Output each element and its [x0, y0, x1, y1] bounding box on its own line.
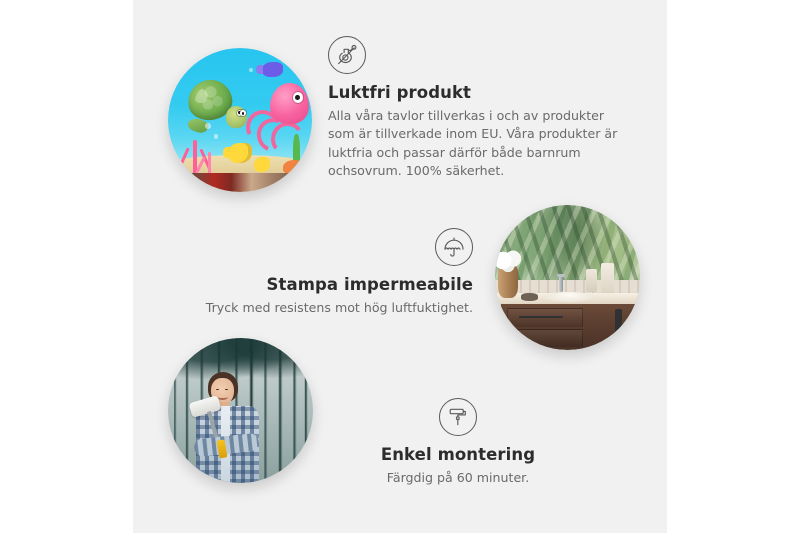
toiletry-bottle	[586, 269, 596, 292]
coral-branch	[177, 147, 190, 170]
feature-icon-row	[328, 36, 623, 74]
cabinet-drawer	[507, 329, 583, 348]
room-strip	[168, 173, 312, 192]
drawer-handle	[519, 316, 563, 318]
bathroom-tropical-wallpaper-circle-photo	[495, 205, 640, 350]
feature-block-odour-free: Luktfri produkt Alla våra tavlor tillver…	[328, 36, 623, 180]
octopus-head	[270, 83, 309, 124]
eye	[216, 389, 219, 391]
sea-turtle	[187, 80, 245, 129]
yellow-fish	[254, 157, 270, 171]
white-flowers	[495, 249, 524, 272]
paint-roller-icon	[439, 398, 477, 436]
feature-icon-row	[188, 228, 473, 266]
wooden-vanity-cabinet	[501, 304, 640, 350]
feature-description: Alla våra tavlor tillverkas i och av pro…	[328, 107, 623, 181]
toiletry-bottle	[601, 263, 614, 295]
soap-dish	[521, 293, 538, 300]
feature-description: Tryck med resistens mot hög luftfuktighe…	[188, 299, 473, 317]
painter-photo-inner	[168, 338, 313, 483]
eye	[225, 389, 228, 391]
octopus-eye	[293, 92, 303, 103]
faucet	[559, 275, 563, 292]
turtle-eye	[240, 110, 246, 116]
sink-basin	[544, 292, 593, 302]
octopus	[254, 83, 309, 149]
bubble	[205, 123, 211, 129]
cabinet-handle	[615, 309, 622, 338]
feature-title: Enkel montering	[328, 445, 588, 465]
bathroom-photo-inner	[495, 205, 640, 350]
infographic-canvas: Luktfri produkt Alla våra tavlor tillver…	[0, 0, 800, 533]
feature-icon-row	[328, 398, 588, 436]
feature-description: Färgdig på 60 minuter.	[328, 469, 588, 487]
feature-title: Stampa impermeabile	[188, 275, 473, 295]
feature-panel: Luktfri produkt Alla våra tavlor tillver…	[133, 0, 667, 533]
turtle-head	[226, 106, 247, 128]
umbrella-icon	[435, 228, 473, 266]
no-odour-spray-bottle-icon	[328, 36, 366, 74]
underwater-photo-inner	[168, 48, 312, 192]
painter-woman-forest-circle-photo	[168, 338, 313, 483]
coral-branch	[196, 156, 207, 174]
feature-block-easy-assembly: Enkel montering Färgdig på 60 minuter.	[328, 398, 588, 487]
feature-block-waterproof-print: Stampa impermeabile Tryck med resistens …	[188, 228, 473, 317]
feature-title: Luktfri produkt	[328, 83, 623, 103]
painter-woman	[194, 370, 269, 483]
blue-fish	[262, 62, 284, 76]
yellow-fish	[228, 143, 251, 163]
underwater-cartoon-circle-photo	[168, 48, 312, 192]
